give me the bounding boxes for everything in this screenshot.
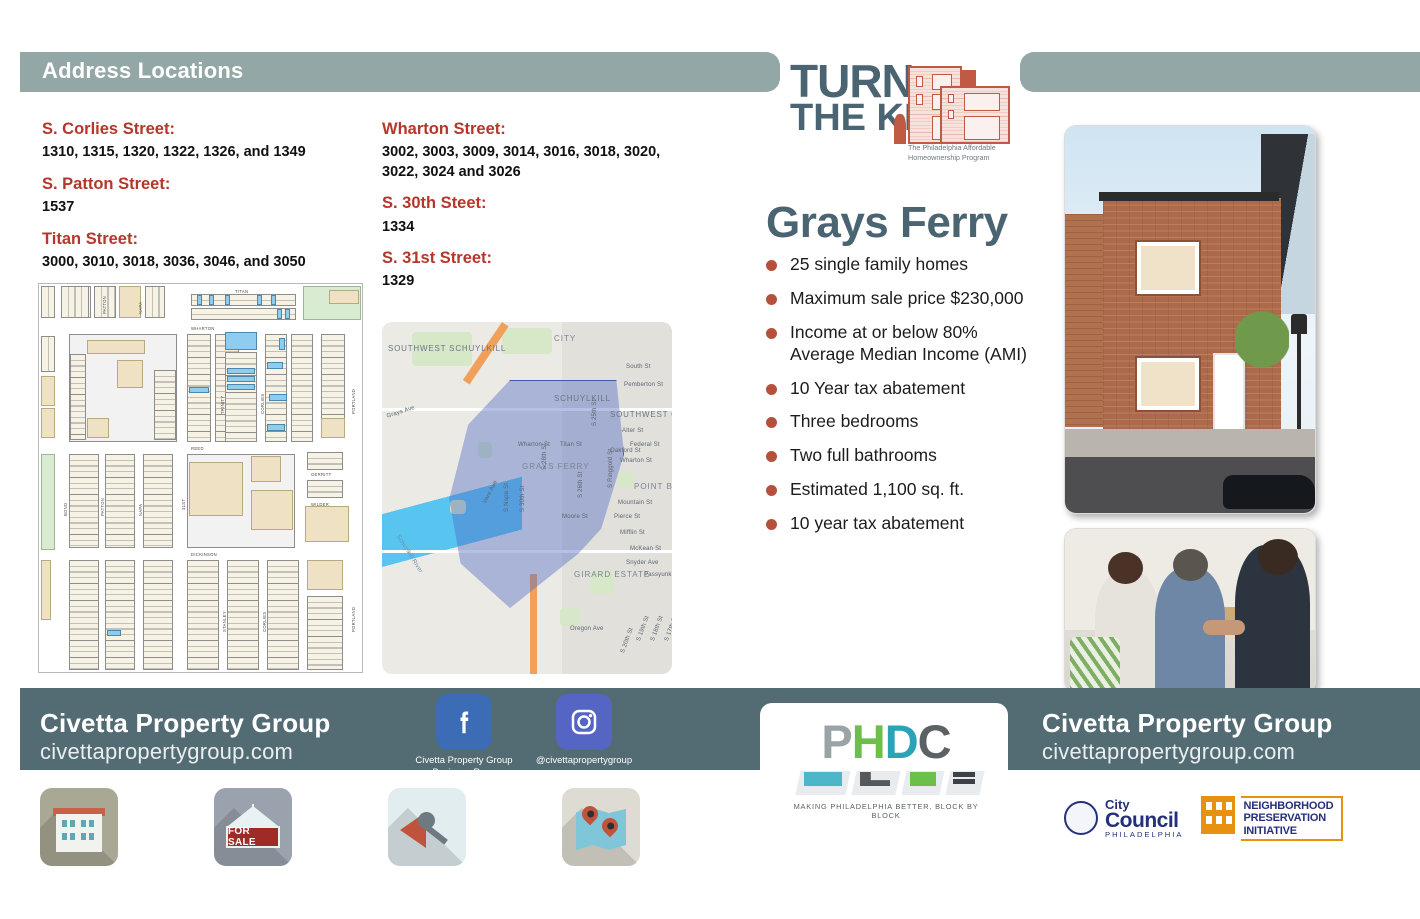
parcel-street-label: CORLIES xyxy=(262,612,267,632)
city-council-line3: PHILADELPHIA xyxy=(1105,831,1183,838)
parcel-street-label: DICKINSON xyxy=(191,552,217,557)
list-item-label: Estimated 1,100 sq. ft. xyxy=(790,479,964,499)
neighborhood-heading: Grays Ferry xyxy=(766,198,1008,248)
address-street-name: S. Patton Street: xyxy=(42,173,372,195)
city-seal-icon xyxy=(1064,801,1098,835)
phdc-letter-c: C xyxy=(918,715,951,768)
bullet-dot-icon xyxy=(766,294,777,305)
list-item: 25 single family homes xyxy=(762,254,1034,276)
map-street-label: S 25th St xyxy=(592,400,598,426)
bullet-dot-icon xyxy=(766,519,777,530)
brochure-page: Address Locations S. Corlies Street: 131… xyxy=(0,0,1420,919)
parcel-street-label: CORLIES xyxy=(260,394,265,414)
map-street-label: S 26th St xyxy=(578,472,584,498)
facebook-icon[interactable] xyxy=(436,694,492,750)
map-street-label: Mifflin St xyxy=(620,530,645,536)
npi-logo: NEIGHBORHOOD PRESERVATION INITIATIVE xyxy=(1201,796,1343,841)
map-street-label: Pierce St xyxy=(614,514,640,520)
map-street-label: Mountain St xyxy=(618,500,652,506)
header-band-right xyxy=(1020,52,1420,92)
for-sale-label: FOR SALE xyxy=(228,826,278,848)
parcel-street-label: WILDER xyxy=(311,502,329,507)
map-area-label: CITY xyxy=(554,334,576,343)
parcel-street-label: WHARTON xyxy=(191,326,215,331)
neighborhood-map[interactable]: SOUTHWEST SCHUYLKILL CITY SCHUYLKILL SOU… xyxy=(382,322,672,674)
bullet-dot-icon xyxy=(766,451,777,462)
facebook-link[interactable]: Civetta Property Group Business Page xyxy=(408,694,520,779)
facebook-caption-line1: Civetta Property Group xyxy=(408,755,520,767)
list-item: Estimated 1,100 sq. ft. xyxy=(762,479,1034,501)
map-street-label: S Napa St xyxy=(504,483,510,512)
brand-block-right: Civetta Property Group civettapropertygr… xyxy=(1042,708,1332,765)
phdc-logo: PHDC MAKING PHILADELPHIA BETTER, BLOCK B… xyxy=(790,718,982,820)
list-item: Two full bathrooms xyxy=(762,445,1034,467)
parcel-street-label: STANLEY xyxy=(222,611,227,632)
map-street-label: S Ringgold St xyxy=(608,449,614,488)
list-item-label: Three bedrooms xyxy=(790,411,918,431)
parcel-street-label: NAPA xyxy=(138,504,143,516)
map-street-label: Alter St xyxy=(622,428,643,434)
parcel-street-label: NAPA xyxy=(138,302,143,314)
partner-logos: City Council PHILADELPHIA NEIGHBORHOOD P… xyxy=(1064,796,1343,841)
map-street-label: Moore St xyxy=(562,514,588,520)
house-photo xyxy=(1064,125,1316,514)
address-street-name: S. Corlies Street: xyxy=(42,118,372,140)
list-item: 10 Year tax abatement xyxy=(762,378,1034,400)
parcel-street-label: PORTLAND xyxy=(351,607,356,632)
facebook-caption: Civetta Property Group Business Page xyxy=(408,755,520,779)
phdc-wordmark: PHDC xyxy=(790,718,982,765)
parcel-street-label: BOND xyxy=(63,503,68,516)
brand-block-left: Civetta Property Group civettapropertygr… xyxy=(40,708,330,765)
parcel-map[interactable]: TITAN PATTON NAPA WHARTON TRINITY COR xyxy=(38,283,363,673)
address-numbers: 1537 xyxy=(42,198,372,218)
list-item: Maximum sale price $230,000 xyxy=(762,288,1034,310)
address-numbers: 3002, 3003, 3009, 3014, 3016, 3018, 3020… xyxy=(382,143,682,182)
npi-building-icon xyxy=(1201,796,1235,834)
address-column-2: Wharton Street: 3002, 3003, 3009, 3014, … xyxy=(382,118,682,292)
parcel-street-label: PATTON xyxy=(100,498,105,516)
bullet-dot-icon xyxy=(766,417,777,428)
list-item-label: Two full bathrooms xyxy=(790,445,937,465)
feature-list: 25 single family homes Maximum sale pric… xyxy=(762,254,1034,547)
logo-house-short-icon xyxy=(940,86,1010,144)
instagram-caption-line1: @civettapropertygroup xyxy=(528,755,640,767)
instagram-caption: @civettapropertygroup xyxy=(528,755,640,767)
instagram-icon[interactable] xyxy=(556,694,612,750)
people-photo xyxy=(1064,528,1316,693)
address-numbers: 1329 xyxy=(382,272,682,292)
phdc-tagline: MAKING PHILADELPHIA BETTER, BLOCK BY BLO… xyxy=(790,802,982,820)
bullet-dot-icon xyxy=(766,384,777,395)
list-item-label: Maximum sale price $230,000 xyxy=(790,288,1023,308)
address-numbers: 1310, 1315, 1320, 1322, 1326, and 1349 xyxy=(42,143,372,163)
npi-line1: NEIGHBORHOOD xyxy=(1243,800,1333,812)
parcel-street-label: 31ST xyxy=(181,499,186,510)
list-item-label: Income at or below 80% Average Median In… xyxy=(790,322,1027,364)
address-column-1: S. Corlies Street: 1310, 1315, 1320, 132… xyxy=(42,118,372,272)
address-street-name: S. 30th Steet: xyxy=(382,192,682,214)
map-area-label: SOUTHWEST SCHUYLKILL xyxy=(388,344,506,353)
building-icon xyxy=(40,788,118,866)
list-item-label: 25 single family homes xyxy=(790,254,968,274)
parcel-street-label: GERRITT xyxy=(311,472,331,477)
list-item: Income at or below 80% Average Median In… xyxy=(762,322,1034,366)
brand-url[interactable]: civettapropertygroup.com xyxy=(40,739,330,765)
instagram-link[interactable]: @civettapropertygroup xyxy=(528,694,640,767)
list-item-label: 10 Year tax abatement xyxy=(790,378,965,398)
map-street-label: Titan St xyxy=(560,442,582,448)
map-street-label: S 28th St xyxy=(542,444,548,470)
brand-name: Civetta Property Group xyxy=(1042,708,1332,739)
map-street-label: S 30th St xyxy=(520,486,526,512)
parcel-street-label: REED xyxy=(191,446,204,451)
parcel-street-label: TRINITY xyxy=(220,396,225,414)
for-sale-sign-icon: FOR SALE xyxy=(214,788,292,866)
page-title: Address Locations xyxy=(42,58,243,84)
address-numbers: 1334 xyxy=(382,218,682,238)
map-street-label: Oakford St xyxy=(610,448,641,454)
phdc-letter-d: D xyxy=(885,715,918,768)
map-street-label: Oregon Ave xyxy=(570,626,604,632)
key-icon xyxy=(388,788,466,866)
map-area-label: SOUTHWEST CENTER CITY xyxy=(610,410,672,419)
bullet-dot-icon xyxy=(766,485,777,496)
map-pins-icon xyxy=(562,788,640,866)
city-council-line2: Council xyxy=(1105,811,1183,831)
facebook-caption-line2: Business Page xyxy=(408,767,520,779)
brand-name: Civetta Property Group xyxy=(40,708,330,739)
phdc-tiles-icon xyxy=(790,767,982,799)
map-street-label: South St xyxy=(626,364,651,370)
map-street-label: Pemberton St xyxy=(624,382,663,388)
map-area-label: GRAYS FERRY xyxy=(522,462,590,471)
phdc-letter-p: P xyxy=(821,715,851,768)
address-street-name: Wharton Street: xyxy=(382,118,682,140)
map-street-label: McKean St xyxy=(630,546,661,552)
map-area-label: POINT BREEZE xyxy=(634,482,672,491)
logo-key-shape xyxy=(894,114,906,144)
brand-url[interactable]: civettapropertygroup.com xyxy=(1042,739,1332,765)
list-item: Three bedrooms xyxy=(762,411,1034,433)
map-street-label: Wharton St xyxy=(620,458,652,464)
list-item: 10 year tax abatement xyxy=(762,513,1034,535)
npi-line3: INITIATIVE xyxy=(1243,825,1333,837)
bullet-dot-icon xyxy=(766,328,777,339)
address-street-name: S. 31st Street: xyxy=(382,247,682,269)
map-area-label: GIRARD ESTATE xyxy=(574,570,650,579)
address-numbers: 3000, 3010, 3018, 3036, 3046, and 3050 xyxy=(42,253,372,273)
logo-tagline: The Philadelphia Affordable Homeownershi… xyxy=(908,143,1020,162)
phdc-letter-h: H xyxy=(852,715,885,768)
parcel-street-label: TITAN xyxy=(235,289,248,294)
parcel-street-label: PATTON xyxy=(102,296,107,314)
map-street-label: Passyunk Ave xyxy=(644,572,672,578)
turn-the-key-logo: TURN THE KEY The Philadelphia Affordable… xyxy=(790,58,1020,163)
parcel-street-label: PORTLAND xyxy=(351,389,356,414)
bullet-dot-icon xyxy=(766,260,777,271)
map-street-label: Snyder Ave xyxy=(626,560,659,566)
list-item-label: 10 year tax abatement xyxy=(790,513,964,533)
city-council-logo: City Council PHILADELPHIA xyxy=(1064,799,1183,838)
map-area-label: SCHUYLKILL xyxy=(554,394,611,403)
npi-line2: PRESERVATION xyxy=(1243,812,1333,824)
address-street-name: Titan Street: xyxy=(42,228,372,250)
